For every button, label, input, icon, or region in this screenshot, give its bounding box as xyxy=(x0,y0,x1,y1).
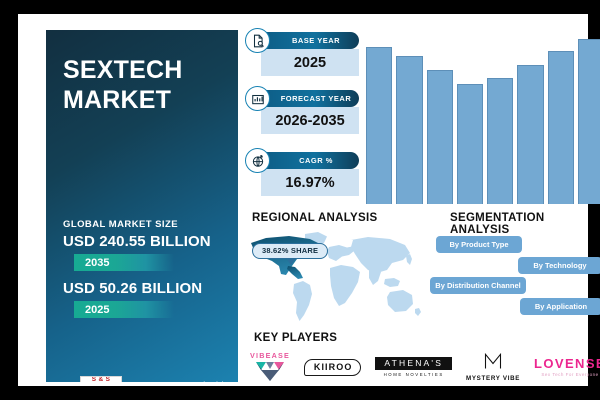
regional-analysis-title: REGIONAL ANALYSIS xyxy=(252,212,377,224)
market-growth-bar-chart xyxy=(366,32,600,204)
segment-pill-product-type[interactable]: By Product Type xyxy=(436,236,522,253)
regional-share-callout: 38.62% SHARE xyxy=(252,243,328,259)
publisher-name-top: S & S xyxy=(92,377,110,382)
source-url: :www.snsinsider.com xyxy=(161,381,238,383)
base-market-size: USD 50.26 BILLION xyxy=(63,280,202,297)
publisher-logo: S & S INSIDER Strategy & Stats xyxy=(80,376,122,382)
infographic-canvas: SEXTECH MARKET GLOBAL MARKET SIZE USD 24… xyxy=(18,14,588,386)
stat-badge-value: 16.97% xyxy=(261,169,359,196)
logo-athenas-name: ATHENA'S xyxy=(384,359,443,368)
segmentation-analysis-title: SEGMENTATION ANALYSIS xyxy=(450,212,588,236)
logo-mystery-vibe-name: MYSTERY VIBE xyxy=(466,375,520,383)
chart-bar xyxy=(517,65,543,204)
segment-pill-application[interactable]: By Application xyxy=(520,298,600,315)
kiiroo-badge: KIIROO xyxy=(304,359,362,376)
chart-bar xyxy=(457,84,483,204)
bar-chart-icon xyxy=(245,86,270,111)
stat-badge-forecast-year: FORECAST YEAR 2026-2035 xyxy=(261,90,359,134)
key-players-title: KEY PLAYERS xyxy=(254,332,337,344)
source-row: S & S INSIDER Strategy & Stats Source:ww… xyxy=(80,376,238,382)
chart-bar xyxy=(427,70,453,204)
source-text: Source:www.snsinsider.com xyxy=(127,381,238,383)
chart-bar xyxy=(548,51,574,204)
key-players-row: VIBEASE KIIROO ATH xyxy=(250,350,600,384)
stat-badge-header: FORECAST YEAR xyxy=(261,90,359,107)
page-title: SEXTECH MARKET xyxy=(63,56,182,115)
segment-pill-distribution-channel[interactable]: By Distribution Channel xyxy=(430,277,526,294)
chart-bar xyxy=(578,39,600,204)
logo-lovense-tagline: Sex Tech For Everyone xyxy=(541,372,598,377)
chart-bar xyxy=(366,47,392,204)
logo-lovense: LOVENSE Sex Tech For Everyone xyxy=(534,357,600,377)
mystery-vibe-monogram-icon xyxy=(483,351,503,374)
forecast-year-chip: 2035 xyxy=(74,254,174,271)
map-region-central-america xyxy=(287,266,303,279)
forecast-market-size: USD 240.55 BILLION xyxy=(63,233,211,250)
infographic-frame: SEXTECH MARKET GLOBAL MARKET SIZE USD 24… xyxy=(0,0,600,400)
stat-badge-label: FORECAST YEAR xyxy=(281,94,352,103)
stat-badge-header: BASE YEAR xyxy=(261,32,359,49)
stat-badge-value: 2025 xyxy=(261,49,359,76)
logo-kiiroo: KIIROO xyxy=(304,359,362,376)
stat-badge-header: CAGR % xyxy=(261,152,359,169)
document-search-icon xyxy=(245,28,270,53)
athenas-badge: ATHENA'S xyxy=(375,357,452,370)
title-panel: SEXTECH MARKET GLOBAL MARKET SIZE USD 24… xyxy=(46,30,238,382)
chart-bar xyxy=(487,78,513,204)
globe-growth-icon xyxy=(245,148,270,173)
stat-badge-value: 2026-2035 xyxy=(261,107,359,134)
logo-athenas-tagline: HOME NOVELTIES xyxy=(384,372,444,377)
title-line-2: MARKET xyxy=(63,86,182,116)
logo-athenas: ATHENA'S HOME NOVELTIES xyxy=(375,357,452,377)
base-year-chip: 2025 xyxy=(74,301,174,318)
global-market-size-label: GLOBAL MARKET SIZE xyxy=(63,219,178,230)
vibease-diamond-icon xyxy=(254,360,286,382)
stat-badge-label: CAGR % xyxy=(299,156,333,165)
world-map: 38.62% SHARE xyxy=(246,229,424,325)
logo-kiiroo-name: KIIROO xyxy=(314,363,353,372)
logo-lovense-name: LOVENSE xyxy=(534,357,600,370)
source-prefix: Source xyxy=(127,381,161,383)
logo-vibease-name: VIBEASE xyxy=(250,352,290,359)
title-line-1: SEXTECH xyxy=(63,56,182,86)
chart-bar xyxy=(396,56,422,204)
stat-badge-base-year: BASE YEAR 2025 xyxy=(261,32,359,76)
stat-badge-cagr: CAGR % 16.97% xyxy=(261,152,359,196)
logo-vibease: VIBEASE xyxy=(250,352,290,382)
logo-mystery-vibe: MYSTERY VIBE xyxy=(466,351,520,383)
segment-pill-technology[interactable]: By Technology xyxy=(518,257,600,274)
stat-badge-label: BASE YEAR xyxy=(292,36,340,45)
